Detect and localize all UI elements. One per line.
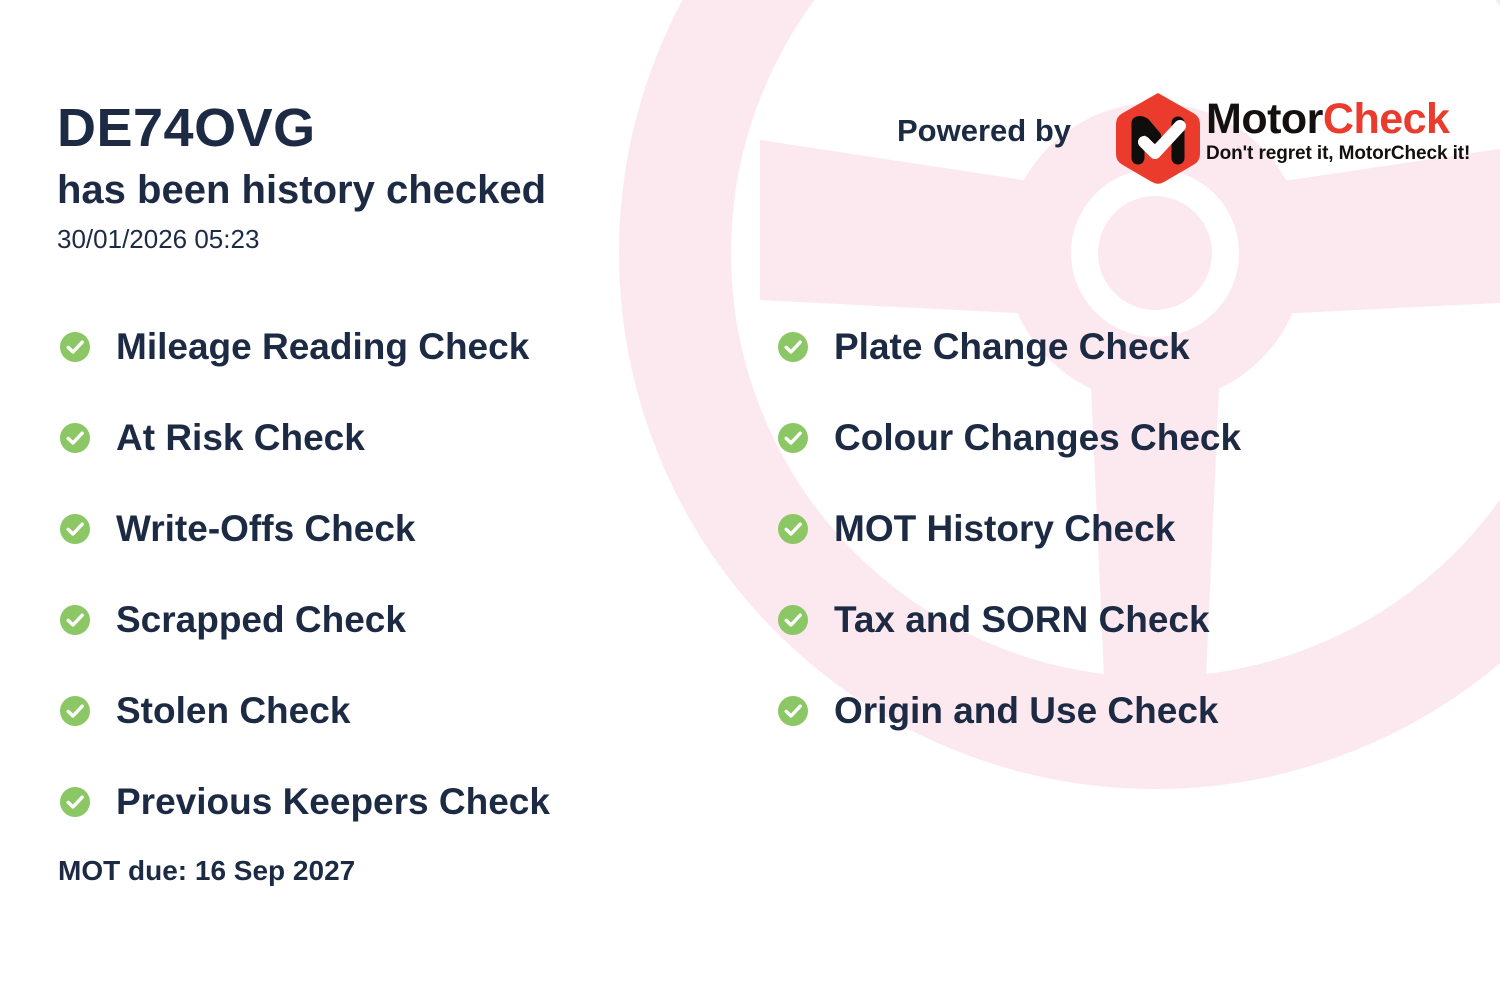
check-timestamp: 30/01/2026 05:23 xyxy=(57,224,259,255)
check-item: Mileage Reading Check xyxy=(60,301,550,392)
check-label: Scrapped Check xyxy=(116,601,406,638)
history-check-card: DE74OVG has been history checked 30/01/2… xyxy=(0,0,1500,1000)
check-label: Origin and Use Check xyxy=(834,692,1219,729)
check-label: Colour Changes Check xyxy=(834,419,1241,456)
check-label: Stolen Check xyxy=(116,692,350,729)
check-circle-icon xyxy=(778,332,808,362)
registration-plate-title: DE74OVG xyxy=(57,100,316,157)
motorcheck-hexagon-logo-icon xyxy=(1108,90,1208,188)
check-circle-icon xyxy=(778,696,808,726)
check-circle-icon xyxy=(778,514,808,544)
check-item: At Risk Check xyxy=(60,392,550,483)
check-label: At Risk Check xyxy=(116,419,365,456)
check-item: Origin and Use Check xyxy=(778,665,1241,756)
history-checked-subtitle: has been history checked xyxy=(57,168,546,212)
check-item: MOT History Check xyxy=(778,483,1241,574)
check-label: Previous Keepers Check xyxy=(116,783,550,820)
check-circle-icon xyxy=(778,605,808,635)
check-label: MOT History Check xyxy=(834,510,1175,547)
check-label: Write-Offs Check xyxy=(116,510,416,547)
check-circle-icon xyxy=(60,787,90,817)
check-item: Plate Change Check xyxy=(778,301,1241,392)
check-label: Plate Change Check xyxy=(834,328,1190,365)
check-label: Tax and SORN Check xyxy=(834,601,1210,638)
check-circle-icon xyxy=(60,332,90,362)
mot-due-label: MOT due: 16 Sep 2027 xyxy=(58,855,355,887)
check-circle-icon xyxy=(60,423,90,453)
check-circle-icon xyxy=(60,605,90,635)
check-circle-icon xyxy=(778,423,808,453)
checks-column-left: Mileage Reading Check At Risk Check Writ… xyxy=(60,301,550,847)
check-item: Colour Changes Check xyxy=(778,392,1241,483)
brand-tagline: Don't regret it, MotorCheck it! xyxy=(1206,143,1470,165)
brand-name-check: Check xyxy=(1323,95,1450,143)
motorcheck-wordmark: MotorCheck Don't regret it, MotorCheck i… xyxy=(1206,98,1470,165)
check-item: Tax and SORN Check xyxy=(778,574,1241,665)
check-circle-icon xyxy=(60,696,90,726)
check-label: Mileage Reading Check xyxy=(116,328,529,365)
brand-name-motor: Motor xyxy=(1206,95,1323,143)
check-item: Write-Offs Check xyxy=(60,483,550,574)
check-item: Scrapped Check xyxy=(60,574,550,665)
check-circle-icon xyxy=(60,514,90,544)
check-item: Previous Keepers Check xyxy=(60,756,550,847)
check-item: Stolen Check xyxy=(60,665,550,756)
checks-column-right: Plate Change Check Colour Changes Check … xyxy=(778,301,1241,756)
powered-by-label: Powered by xyxy=(897,113,1071,149)
